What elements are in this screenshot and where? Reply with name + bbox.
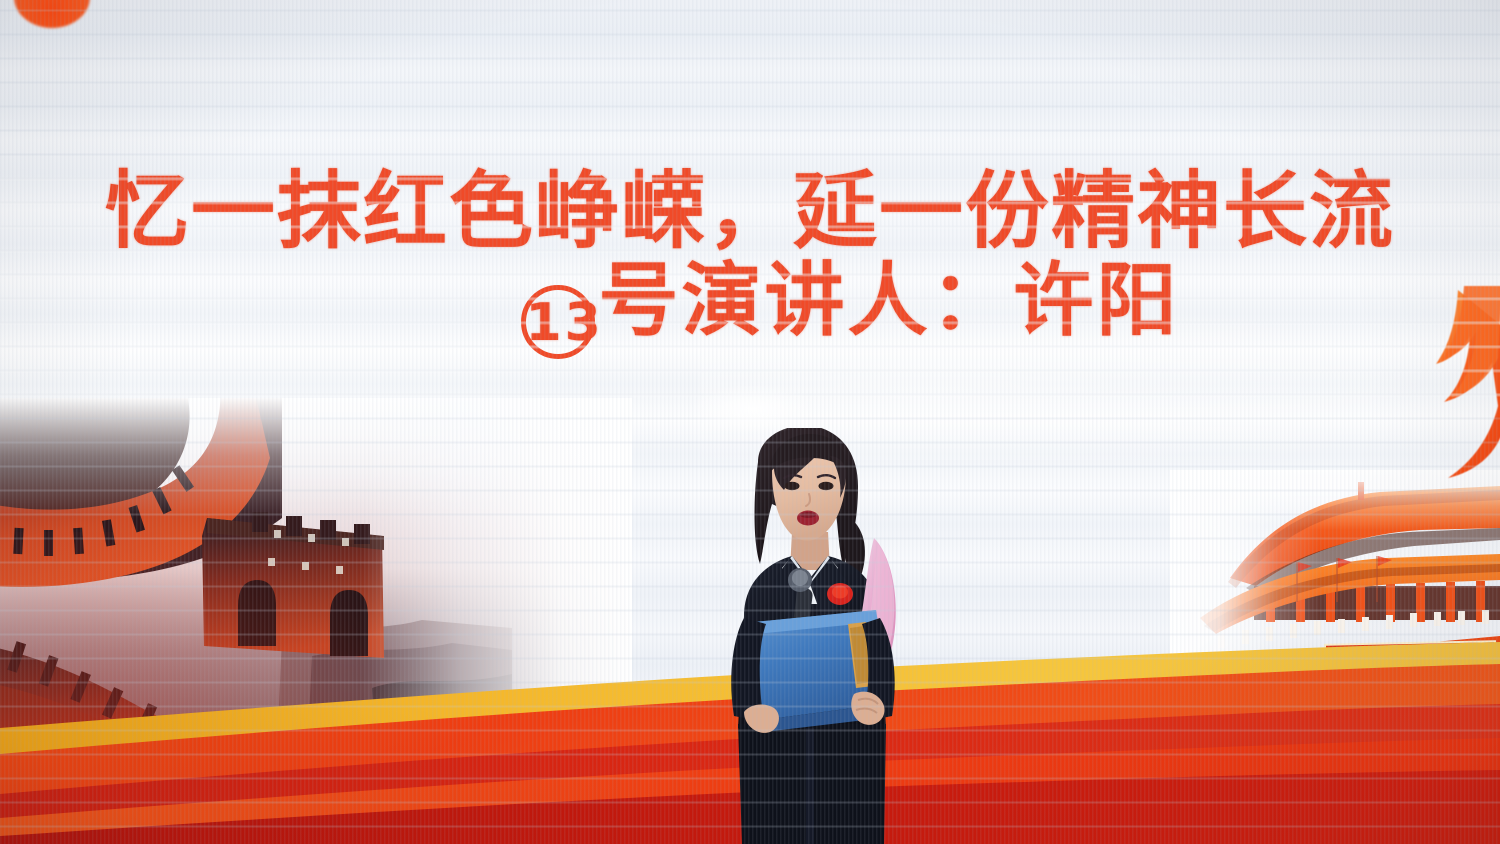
great-wall-graphic (0, 398, 632, 844)
speaker-figure (688, 428, 938, 844)
great-wall-right-fade (362, 398, 632, 844)
stage-photo: 中华人民共和国万岁 (0, 0, 1500, 844)
tiananmen-banner-text: 中华人民共和国万岁 (1324, 640, 1496, 670)
tiananmen-graphic: 中华人民共和国万岁 (1170, 470, 1500, 730)
tiananmen-top-fade (1170, 470, 1500, 530)
